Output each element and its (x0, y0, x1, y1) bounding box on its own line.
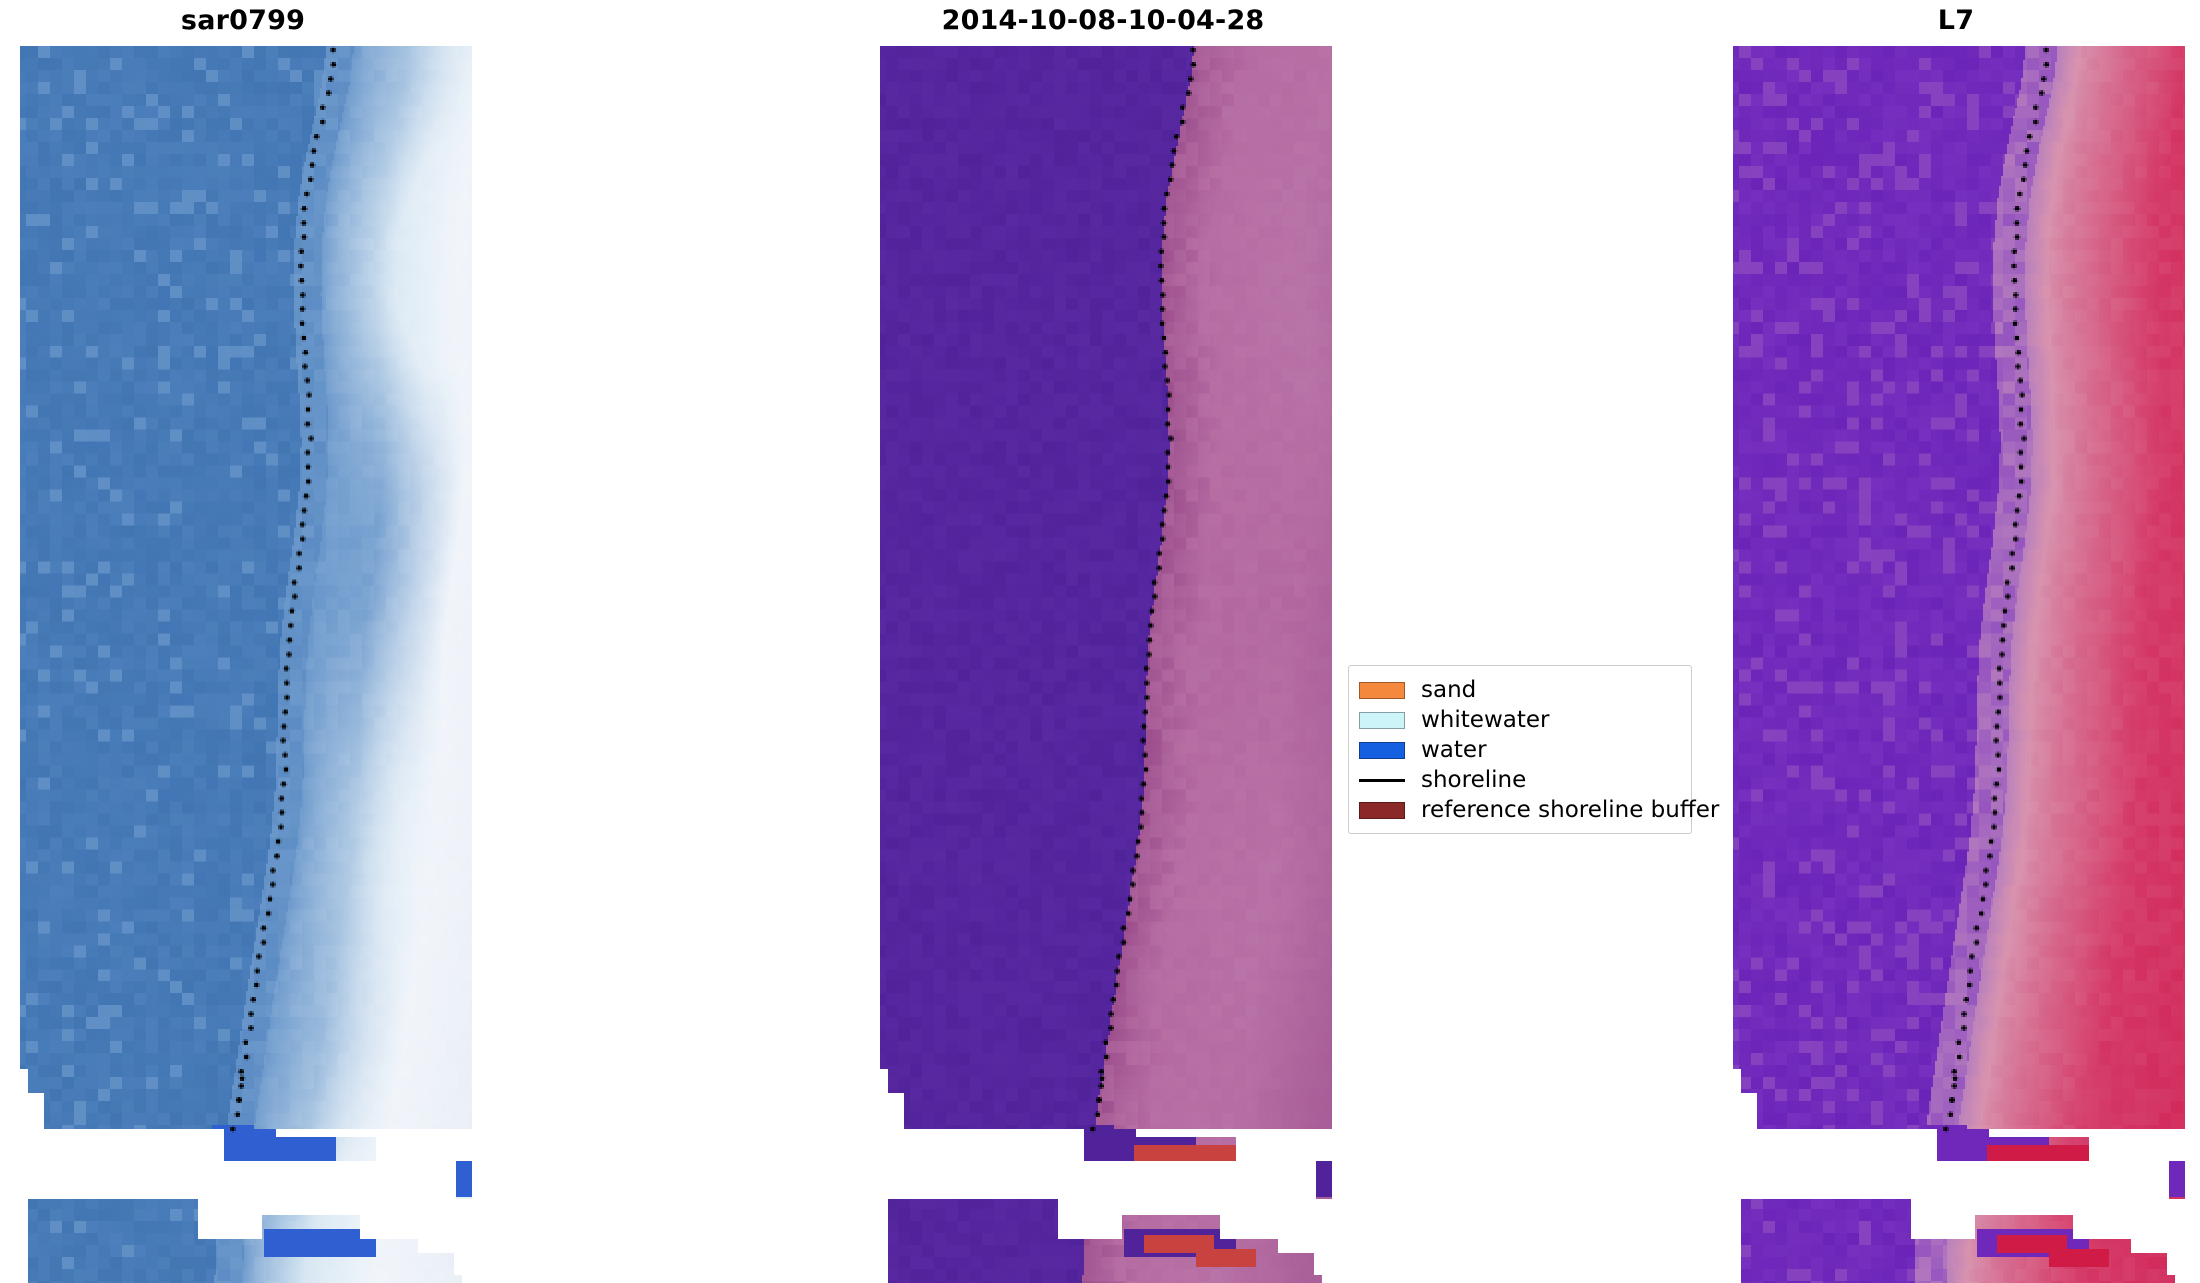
legend-label-shoreline: shoreline (1421, 767, 1526, 793)
legend-item-whitewater: whitewater (1359, 705, 1679, 735)
legend-swatch-shoreline (1359, 779, 1405, 782)
legend-label-sand: sand (1421, 677, 1476, 703)
legend-item-shoreline: shoreline (1359, 765, 1679, 795)
rgb-raster (14, 46, 472, 1283)
legend-item-sand: sand (1359, 675, 1679, 705)
panel-rgb-image[interactable] (14, 46, 472, 1283)
legend-swatch-water (1359, 742, 1405, 759)
legend-item-reference-buffer: reference shoreline buffer (1359, 795, 1679, 825)
legend-swatch-whitewater (1359, 712, 1405, 729)
legend: sand whitewater water shoreline referenc… (1348, 665, 1692, 834)
legend-item-water: water (1359, 735, 1679, 765)
legend-label-water: water (1421, 737, 1487, 763)
legend-swatch-reference-buffer (1359, 802, 1405, 819)
legend-swatch-sand (1359, 682, 1405, 699)
legend-label-whitewater: whitewater (1421, 707, 1549, 733)
index-raster (1727, 46, 2185, 1283)
classification-raster (874, 46, 1332, 1283)
panel-index-image[interactable] (1727, 46, 2185, 1283)
panel-title-index: L7 (1727, 2, 2185, 40)
legend-label-reference-buffer: reference shoreline buffer (1421, 797, 1719, 823)
panel-classification-image[interactable] (874, 46, 1332, 1283)
panel-title-rgb: sar0799 (14, 2, 472, 40)
panel-title-classification: 2014-10-08-10-04-28 (874, 2, 1332, 40)
figure-canvas: sar0799 2014-10-08-10-04-28 L7 sand whit… (0, 0, 2200, 1283)
